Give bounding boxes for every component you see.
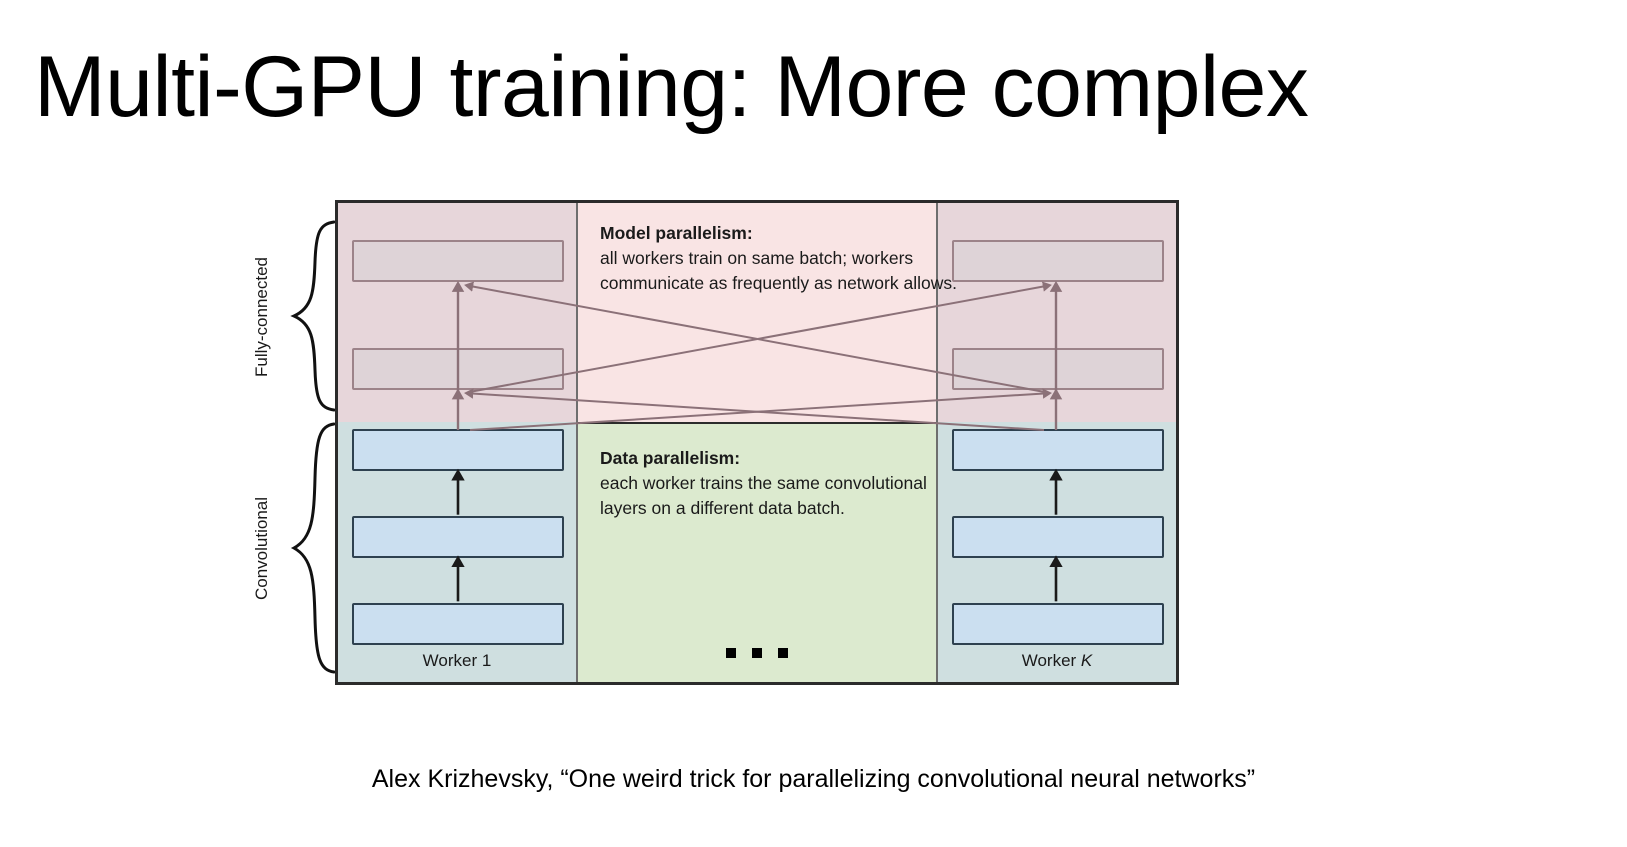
- ellipsis-dot: [752, 648, 762, 658]
- worker-1-label-index: 1: [482, 651, 491, 670]
- region-label-fully-connected: Fully-connected: [252, 224, 272, 409]
- worker-1-label: Worker 1: [338, 651, 576, 671]
- worker-column-k: Worker K: [936, 203, 1176, 684]
- worker-k-conv-layer-1: [952, 603, 1164, 645]
- multi-gpu-diagram: Fully-connected Convolutional Worker 1: [250, 196, 1190, 696]
- worker-1-conv-layer-2: [352, 516, 564, 558]
- worker-k-conv-layer-3: [952, 429, 1164, 471]
- worker-1-conv-layer-1: [352, 603, 564, 645]
- worker-1-label-prefix: Worker: [423, 651, 482, 670]
- region-label-convolutional: Convolutional: [252, 441, 272, 656]
- callout-model-parallelism: Model parallelism: all workers train on …: [600, 221, 970, 296]
- worker-k-fc-layer-1: [952, 348, 1164, 390]
- diagram-frame: Worker 1 Worker K: [335, 200, 1179, 685]
- worker-1-fc-layer-1: [352, 348, 564, 390]
- attribution-text: Alex Krizhevsky, “One weird trick for pa…: [0, 765, 1627, 794]
- ellipsis-dot: [778, 648, 788, 658]
- page-title: Multi-GPU training: More complex: [34, 42, 1308, 132]
- worker-k-label-index: K: [1081, 651, 1092, 670]
- worker-k-conv-layer-2: [952, 516, 1164, 558]
- ellipsis-dot: [726, 648, 736, 658]
- worker-1-conv-layer-3: [352, 429, 564, 471]
- brace-convolutional: [290, 418, 336, 678]
- callout-model-heading: Model parallelism:: [600, 221, 970, 246]
- callout-model-body: all workers train on same batch; workers…: [600, 248, 957, 293]
- callout-data-heading: Data parallelism:: [600, 446, 940, 471]
- callout-data-parallelism: Data parallelism: each worker trains the…: [600, 446, 940, 521]
- worker-1-fc-layer-2: [352, 240, 564, 282]
- worker-k-label: Worker K: [938, 651, 1176, 671]
- worker-k-fc-layer-2: [952, 240, 1164, 282]
- worker-column-1: Worker 1: [338, 203, 578, 684]
- brace-fully-connected: [290, 216, 336, 416]
- worker-k-label-prefix: Worker: [1022, 651, 1081, 670]
- callout-data-body: each worker trains the same convolutiona…: [600, 473, 927, 518]
- ellipsis-dots: [726, 648, 788, 658]
